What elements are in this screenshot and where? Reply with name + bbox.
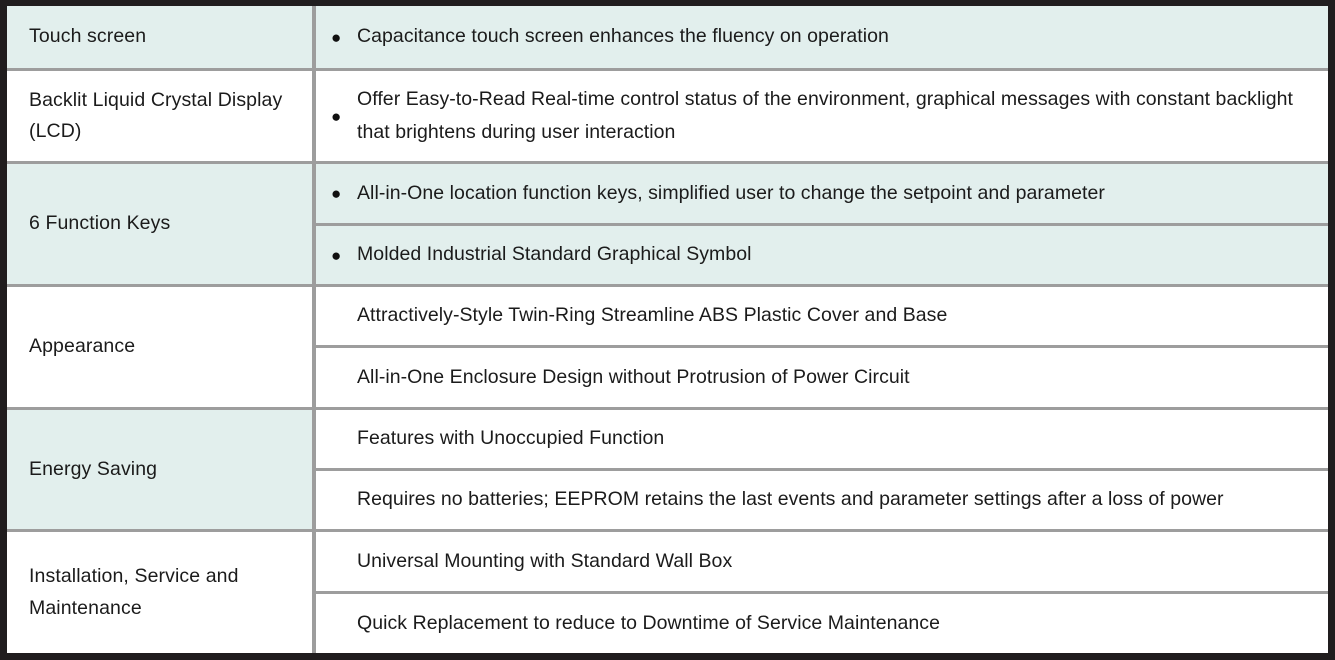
feature-text: Universal Mounting with Standard Wall Bo… <box>357 545 1328 579</box>
list-item: Requires no batteries; EEPROM retains th… <box>316 471 1328 529</box>
feature-list: Features with Unoccupied Function Requir… <box>316 410 1328 530</box>
category-label: Installation, Service and Maintenance <box>29 561 312 624</box>
category-cell: Installation, Service and Maintenance <box>7 532 316 653</box>
table-row: Installation, Service and Maintenance Un… <box>7 532 1328 653</box>
list-item: Attractively-Style Twin-Ring Streamline … <box>316 287 1328 348</box>
feature-text: All-in-One Enclosure Design without Prot… <box>357 361 1328 395</box>
category-label: Energy Saving <box>29 454 157 486</box>
table-row: Energy Saving Features with Unoccupied F… <box>7 410 1328 533</box>
feature-list: Universal Mounting with Standard Wall Bo… <box>316 532 1328 653</box>
specifications-table: Touch screen ● Capacitance touch screen … <box>0 0 1335 660</box>
feature-list: ● All-in-One location function keys, sim… <box>316 164 1328 284</box>
table-row: 6 Function Keys ● All-in-One location fu… <box>7 164 1328 287</box>
bullet-icon: ● <box>331 28 357 46</box>
table-row: Appearance Attractively-Style Twin-Ring … <box>7 287 1328 410</box>
category-label: Appearance <box>29 331 135 363</box>
list-item: Universal Mounting with Standard Wall Bo… <box>316 532 1328 594</box>
feature-list: ● Offer Easy-to-Read Real-time control s… <box>316 71 1328 161</box>
list-item: All-in-One Enclosure Design without Prot… <box>316 348 1328 406</box>
category-cell: Appearance <box>7 287 316 407</box>
feature-text: Offer Easy-to-Read Real-time control sta… <box>357 83 1328 150</box>
feature-text: Quick Replacement to reduce to Downtime … <box>357 607 1328 641</box>
feature-list: Attractively-Style Twin-Ring Streamline … <box>316 287 1328 407</box>
category-label: Backlit Liquid Crystal Display (LCD) <box>29 85 312 148</box>
list-item: ● Molded Industrial Standard Graphical S… <box>316 226 1328 284</box>
table-row: Touch screen ● Capacitance touch screen … <box>7 6 1328 71</box>
category-cell: 6 Function Keys <box>7 164 316 284</box>
feature-text: Features with Unoccupied Function <box>357 422 1328 456</box>
feature-text: Attractively-Style Twin-Ring Streamline … <box>357 299 1328 333</box>
list-item: Features with Unoccupied Function <box>316 410 1328 471</box>
feature-text: Requires no batteries; EEPROM retains th… <box>357 483 1328 517</box>
bullet-icon: ● <box>331 246 357 264</box>
category-label: 6 Function Keys <box>29 208 170 240</box>
list-item: Quick Replacement to reduce to Downtime … <box>316 594 1328 653</box>
bullet-icon: ● <box>331 184 357 202</box>
category-label: Touch screen <box>29 21 146 53</box>
list-item: ● All-in-One location function keys, sim… <box>316 164 1328 225</box>
list-item: ● Offer Easy-to-Read Real-time control s… <box>316 71 1328 161</box>
feature-text: Molded Industrial Standard Graphical Sym… <box>357 238 1328 272</box>
category-cell: Touch screen <box>7 6 316 68</box>
feature-text: Capacitance touch screen enhances the fl… <box>357 20 1328 54</box>
bullet-icon: ● <box>331 107 357 125</box>
category-cell: Energy Saving <box>7 410 316 530</box>
feature-text: All-in-One location function keys, simpl… <box>357 177 1328 211</box>
list-item: ● Capacitance touch screen enhances the … <box>316 6 1328 68</box>
feature-list: ● Capacitance touch screen enhances the … <box>316 6 1328 68</box>
category-cell: Backlit Liquid Crystal Display (LCD) <box>7 71 316 161</box>
table-row: Backlit Liquid Crystal Display (LCD) ● O… <box>7 71 1328 164</box>
